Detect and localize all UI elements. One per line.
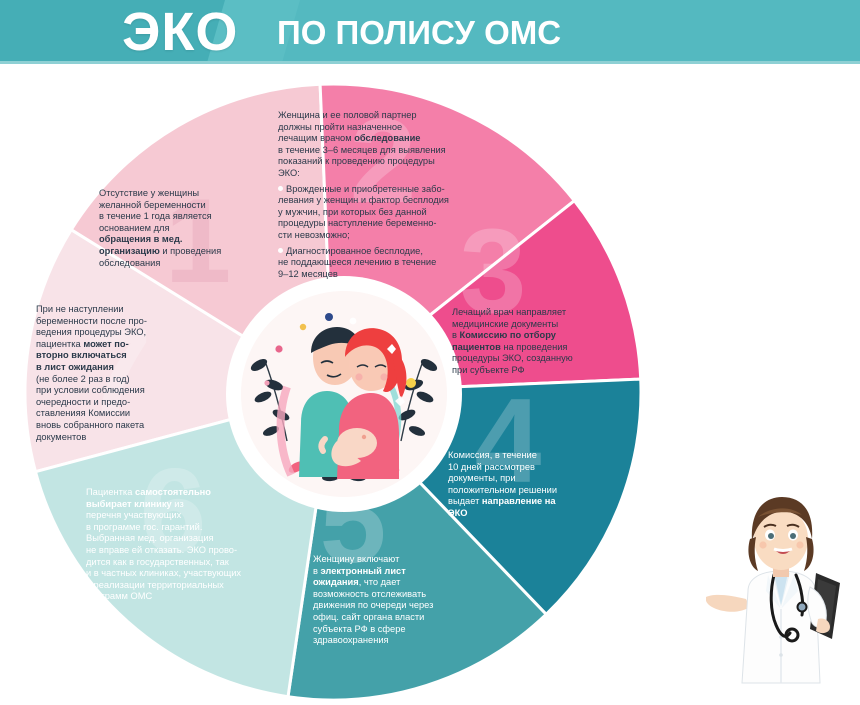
body-text: в программе гос. гарантий. [86,522,202,532]
bullet-icon [278,186,283,191]
text-line: должны пройти назначенное [278,122,510,134]
text-line: Женщина и ее половой партнер [278,110,510,122]
text-line: основанием для [99,223,277,235]
text-line: ставленияя Комиссии [36,408,208,420]
emphasis-text: направление на [482,496,556,506]
text-line: не вправе ей отказать. ЭКО прово- [86,545,286,557]
body-text: ведения процедуры ЭКО, [36,327,146,337]
body-text: документы, при [448,473,516,483]
body-text: Лечащий врач направляет [452,307,566,317]
step-7-text: При не наступлениибеременности после про… [36,304,208,443]
body-text: должны пройти назначенное [278,122,402,132]
body-text: документов [36,432,86,442]
text-line: ведения процедуры ЭКО, [36,327,208,339]
center-illustration-frame [233,283,455,505]
body-text: , что дает [359,577,401,587]
body-text: и проведения [160,246,222,256]
body-text: дится как в государственных, так [86,557,229,567]
body-text: ЭКО: [278,168,300,178]
header-divider [0,61,860,64]
text-line: лечащим врачом обследование [278,133,510,145]
body-text: лечащим врачом [278,133,354,143]
step-1-text: Отсутствие у женщиныжеланной беременност… [99,188,277,269]
emphasis-text: в лист ожидания [36,362,114,372]
body-text: желанной беременности [99,200,206,210]
body-text: движения по очереди через [313,600,433,610]
text-line: здравоохранения [313,635,503,647]
body-text: основанием для [99,223,170,233]
body-text: беременности после про- [36,316,147,326]
body-text: возможность отслеживать [313,589,426,599]
body-text: здравоохранения [313,635,389,645]
emphasis-text: электронный лист [321,566,406,576]
body-text: Диагностированное бесплодие, [286,246,423,256]
text-line: сти невозможно; [278,230,510,242]
body-text: программ ОМС [86,591,152,601]
body-text: в течение 3–6 месяцев для выявления [278,145,446,155]
body-text: медицинские документы [452,319,558,329]
text-line: документы, при [448,473,628,485]
body-text: (не более 2 раз в год) [36,374,130,384]
body-text: Врожденные и приобретенные забо- [286,184,445,194]
body-text: и в частных клиниках, участвующих [86,568,241,578]
emphasis-text: организацию [99,246,160,256]
text-line: документов [36,432,208,444]
text-line: При не наступлении [36,304,208,316]
text-line: желанной беременности [99,200,277,212]
text-line: процедуры наступление беременно- [278,218,510,230]
body-text: в течение 1 года является [99,211,212,221]
text-line: процедуры ЭКО, созданную [452,353,642,365]
text-line: ЭКО [448,508,628,520]
text-line: очередности и предо- [36,397,208,409]
step-4-text: Комиссия, в течение10 дней рассмотревдок… [448,450,628,520]
emphasis-text: ожидания [313,577,359,587]
text-line: Лечащий врач направляет [452,307,642,319]
body-text: в [313,566,321,576]
body-text: левания у женщин и фактор бесплодия [278,195,449,205]
body-text: при субъекте РФ [452,365,525,375]
emphasis-text: выбирает клинику [86,499,172,509]
text-line: при условии соблюдения [36,385,208,397]
body-text: Женщина и ее половой партнер [278,110,417,120]
text-line: в лист ожидания [36,362,208,374]
text-line: беременности после про- [36,316,208,328]
body-text: процедуры ЭКО, созданную [452,353,573,363]
text-line: (не более 2 раз в год) [36,374,208,386]
step-6-text: Пациентка самостоятельновыбирает клинику… [86,487,286,603]
text-line: левания у женщин и фактор бесплодия [278,195,510,207]
body-text: субъекта РФ в сфере [313,624,406,634]
family-illustration-svg [241,291,447,497]
text-line: у мужчин, при которых без данной [278,207,510,219]
text-line: Диагностированное бесплодие, [278,246,510,258]
body-text: 10 дней рассмотрев [448,462,535,472]
step-2-text: Женщина и ее половой партнердолжны пройт… [278,110,510,280]
body-text: процедуры наступление беременно- [278,218,436,228]
body-text: обследования [99,258,160,268]
body-text: Выбранная мед. организация [86,533,214,543]
text-line: офиц. сайт органа власти [313,612,503,624]
text-line: положительном решении [448,485,628,497]
emphasis-text: ЭКО [448,508,468,518]
body-text: сти невозможно; [278,230,350,240]
body-text: вновь собранного пакета [36,420,144,430]
infographic-root: ЭКО ПО ПОЛИСУ ОМС 1234567 [0,0,860,705]
text-line: в Комиссию по отбору [452,330,642,342]
emphasis-text: пациентов [452,342,501,352]
body-text: показаний к проведению процедуры [278,156,435,166]
body-text: 9–12 месяцев [278,269,338,279]
body-text: не вправе ей отказать. ЭКО прово- [86,545,237,555]
body-text: офиц. сайт органа власти [313,612,424,622]
body-text: выдает [448,496,482,506]
body-text: на проведения [501,342,568,352]
emphasis-text: может по- [83,339,128,349]
text-line: при субъекте РФ [452,365,642,377]
text-line: организацию и проведения [99,246,277,258]
body-text: Отсутствие у женщины [99,188,199,198]
female-doctor-illustration [706,487,856,705]
text-line: Пациентка самостоятельно [86,487,286,499]
doctor-svg [706,487,856,705]
family-with-baby-illustration [241,291,447,497]
body-text: в [452,330,460,340]
page-title: ЭКО [122,2,238,62]
body-text: не поддающееся лечению в течение [278,257,436,267]
page-subtitle: ПО ПОЛИСУ ОМС [277,12,561,54]
body-text: Женщину включают [313,554,399,564]
text-line: вновь собранного пакета [36,420,208,432]
text-line: пациентов на проведения [452,342,642,354]
body-text: Пациентка [86,487,135,497]
emphasis-text: самостоятельно [135,487,211,497]
text-line: в течение 3–6 месяцев для выявления [278,145,510,157]
text-line: в программе гос. гарантий. [86,522,286,534]
text-line: вторно включаться [36,350,208,362]
body-text: у мужчин, при которых без данной [278,207,427,217]
body-text: в реализации территориальных [86,580,224,590]
text-line: в электронный лист [313,566,503,578]
text-line: дится как в государственных, так [86,557,286,569]
text-line: 10 дней рассмотрев [448,462,628,474]
step-3-text: Лечащий врач направляетмедицинские докум… [452,307,642,377]
text-line: выдает направление на [448,496,628,508]
body-text: из [172,499,184,509]
text-line: выбирает клинику из [86,499,286,511]
text-line: Отсутствие у женщины [99,188,277,200]
page-header: ЭКО ПО ПОЛИСУ ОМС [0,0,860,64]
text-line: Комиссия, в течение [448,450,628,462]
text-line: в реализации территориальных [86,580,286,592]
emphasis-text: обращения в мед. [99,234,182,244]
text-line: не поддающееся лечению в течение [278,257,510,269]
body-text: пациентка [36,339,83,349]
text-line: ЭКО: [278,168,510,180]
text-line: движения по очереди через [313,600,503,612]
text-line: медицинские документы [452,319,642,331]
emphasis-text: Комиссию по отбору [460,330,556,340]
text-line: ожидания, что дает [313,577,503,589]
body-text: При не наступлении [36,304,124,314]
text-line: субъекта РФ в сфере [313,624,503,636]
text-line: Выбранная мед. организация [86,533,286,545]
text-line: Женщину включают [313,554,503,566]
text-line: обращения в мед. [99,234,277,246]
text-line: в течение 1 года является [99,211,277,223]
text-line: показаний к проведению процедуры [278,156,510,168]
text-line: программ ОМС [86,591,286,603]
text-line: обследования [99,258,277,270]
text-line: пациентка может по- [36,339,208,351]
text-line: Врожденные и приобретенные забо- [278,184,510,196]
text-line: и в частных клиниках, участвующих [86,568,286,580]
body-text: очередности и предо- [36,397,130,407]
text-line: перечня участвующих [86,510,286,522]
text-line: 9–12 месяцев [278,269,510,281]
emphasis-text: вторно включаться [36,350,127,360]
body-text: при условии соблюдения [36,385,145,395]
bullet-icon [278,248,283,253]
text-line: возможность отслеживать [313,589,503,601]
emphasis-text: обследование [354,133,420,143]
step-5-text: Женщину включаютв электронный листожидан… [313,554,503,647]
body-text: Комиссия, в течение [448,450,537,460]
body-text: положительном решении [448,485,557,495]
body-text: перечня участвующих [86,510,181,520]
body-text: ставленияя Комиссии [36,408,130,418]
